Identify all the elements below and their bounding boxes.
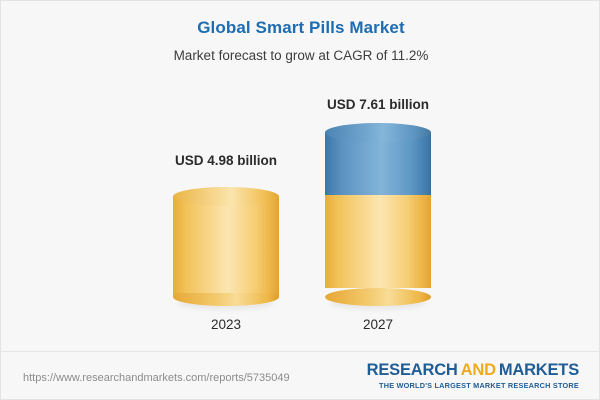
logo-word-markets: MARKETS xyxy=(499,361,579,379)
cylinder-2023 xyxy=(173,187,279,306)
chart-card: Global Smart Pills Market Market forecas… xyxy=(0,0,600,400)
logo-tagline: THE WORLD'S LARGEST MARKET RESEARCH STOR… xyxy=(367,381,579,390)
bar-value-label-2023: USD 4.98 billion xyxy=(173,153,279,169)
cylinder-body-amber-overlay-2023 xyxy=(173,196,279,293)
cylinder-top-cap-2027 xyxy=(325,123,431,142)
cylinder-2027 xyxy=(325,123,431,306)
cylinder-bottom-cap-2027 xyxy=(325,288,431,306)
logo-wordmark: RESEARCHANDMARKETS xyxy=(367,361,579,380)
cylinder-top-cap-2023 xyxy=(173,187,279,206)
chart-plot-area: USD 4.98 billion 2023 USD 7.61 billion xyxy=(1,1,600,349)
logo-word-research: RESEARCH xyxy=(367,361,458,379)
bar-group-2027: USD 7.61 billion 2027 xyxy=(325,1,431,349)
bar-value-label-2027: USD 7.61 billion xyxy=(325,97,431,113)
cylinder-body-amber-overlay-2027 xyxy=(325,195,431,284)
bar-category-label-2027: 2027 xyxy=(325,317,431,333)
bar-group-2023: USD 4.98 billion 2023 xyxy=(173,1,279,349)
source-url-link[interactable]: https://www.researchandmarkets.com/repor… xyxy=(23,371,290,385)
brand-logo[interactable]: RESEARCHANDMARKETS THE WORLD'S LARGEST M… xyxy=(367,361,579,390)
logo-word-and: AND xyxy=(461,361,496,379)
bar-category-label-2023: 2023 xyxy=(173,317,279,333)
footer-divider xyxy=(1,351,600,352)
